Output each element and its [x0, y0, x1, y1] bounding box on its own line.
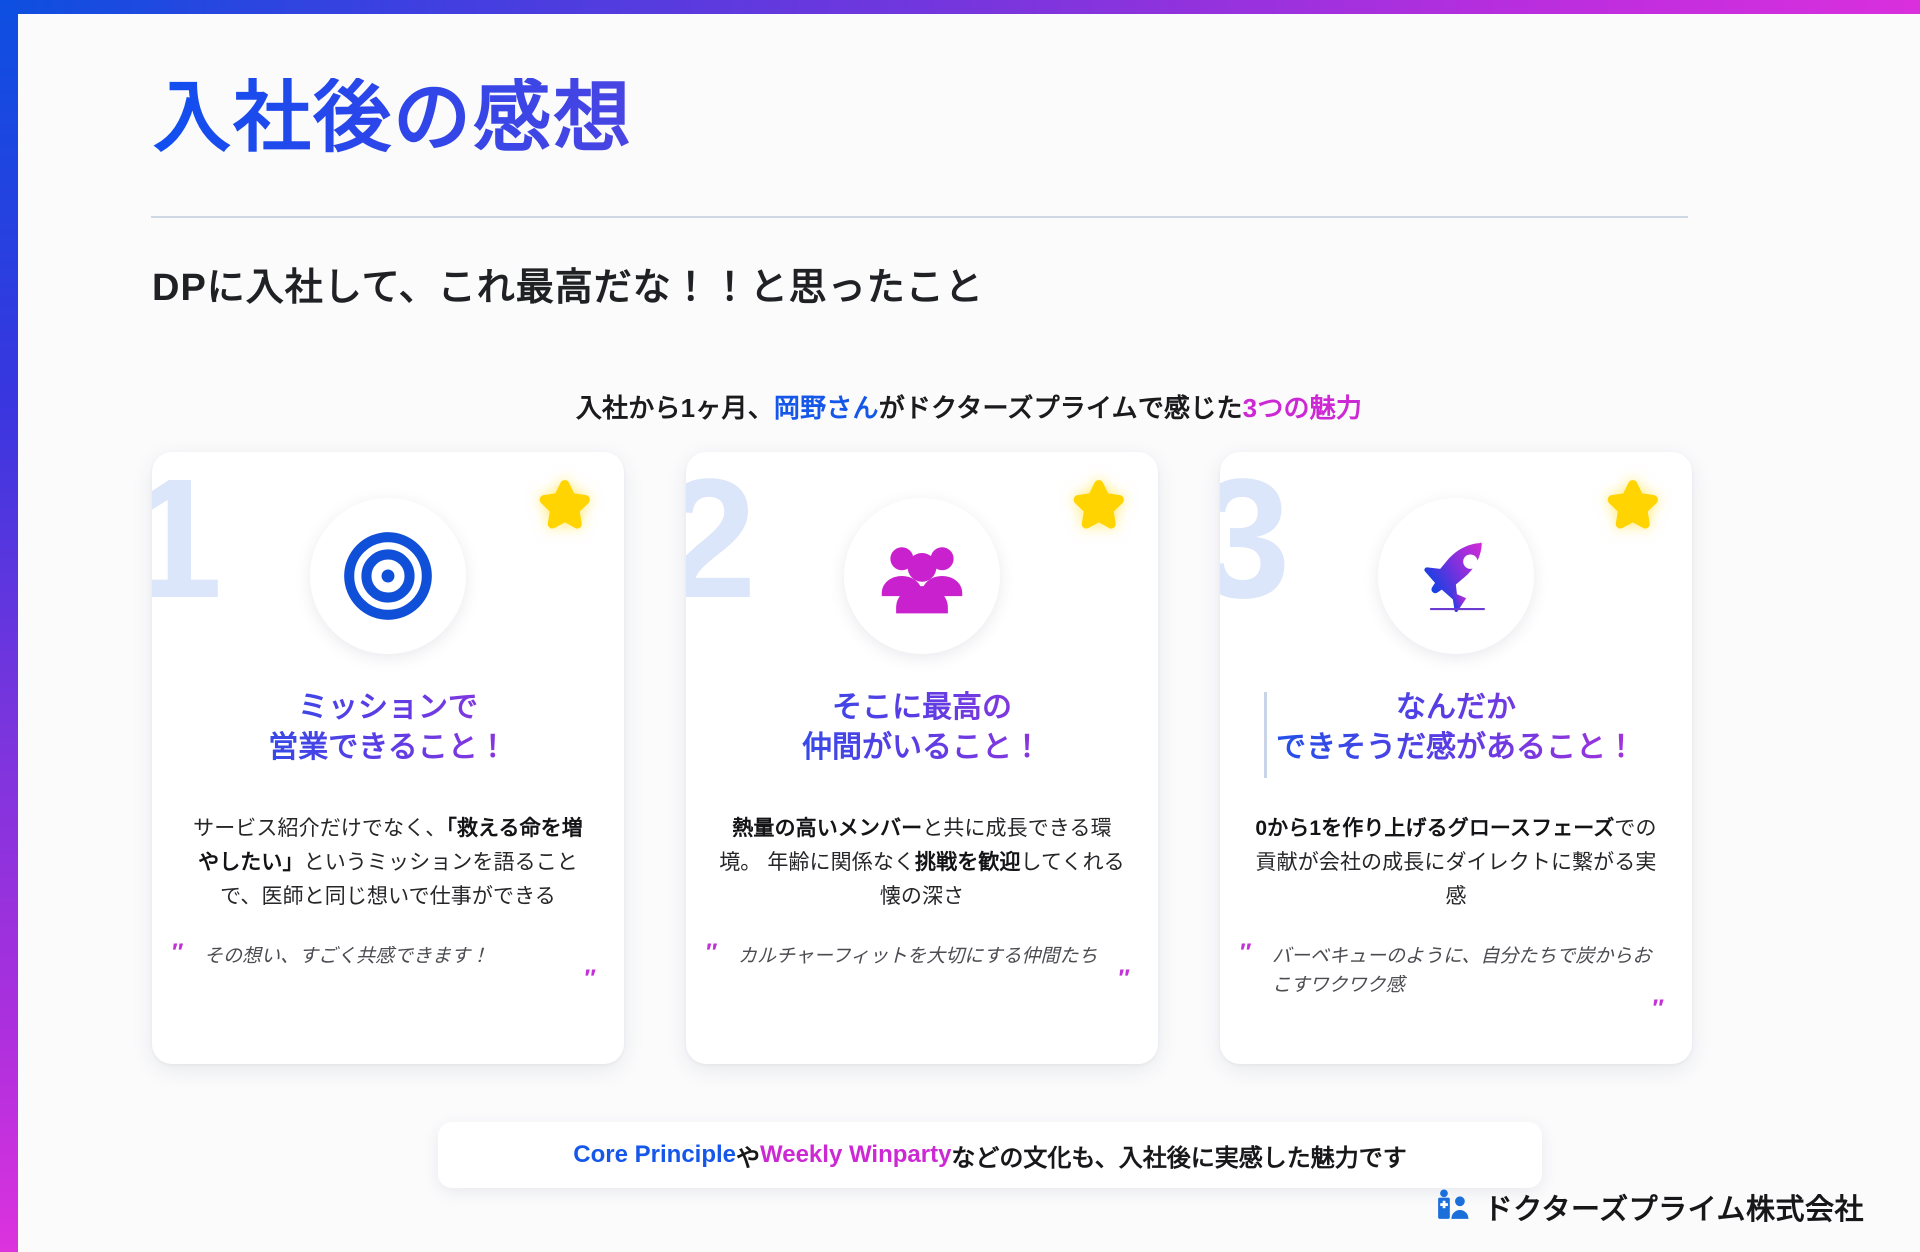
- rocket-icon: [1378, 498, 1534, 654]
- card-number-watermark: 2: [686, 454, 753, 624]
- body-part-bold: 0から1を作り上げるグロースフェーズ: [1255, 817, 1614, 840]
- banner-term-weekly-winparty: Weekly Winparty: [760, 1141, 951, 1169]
- lead-part1: 入社から1ヶ月、: [576, 393, 774, 423]
- quote-open-icon: ″: [172, 934, 184, 971]
- benefit-card-2[interactable]: 2: [686, 452, 1158, 1064]
- card-number-watermark: 3: [1220, 454, 1287, 624]
- banner-tail-text: などの文化も、入社後に実感した魅力です: [951, 1138, 1406, 1173]
- banner-conjunction: や: [736, 1138, 760, 1173]
- card-quote-3: ″ バーベキューのように、自分たちで炭からおこすワクワク感 ″: [1258, 942, 1660, 1001]
- slide-root: 入社後の感想 DPに入社して、これ最高だな！！と思ったこと 入社から1ヶ月、岡野…: [0, 0, 1920, 1252]
- card-heading-2: そこに最高の 仲間がいること！: [686, 688, 1158, 767]
- lead-sentence: 入社から1ヶ月、岡野さんがドクターズプライムで感じた3つの魅力: [18, 388, 1920, 425]
- quote-text: その想い、すごく共感できます！: [190, 942, 592, 971]
- culture-banner: Core PrincipleやWeekly Winpartyなどの文化も、入社後…: [438, 1122, 1542, 1188]
- body-part-bold: 熱量の高いメンバー: [732, 817, 922, 840]
- company-name: ドクターズプライム株式会社: [1484, 1186, 1864, 1228]
- lead-part2: がドクターズプライムで感じた: [879, 393, 1243, 423]
- card-body-3: 0から1を作り上げるグロースフェーズでの貢献が会社の成長にダイレクトに繋がる実感: [1252, 812, 1660, 914]
- people-group-icon: [844, 498, 1000, 654]
- quote-open-icon: ″: [1240, 934, 1252, 971]
- star-icon: [536, 476, 594, 534]
- benefit-card-1[interactable]: 1 ミッションで 営業できること！: [152, 452, 624, 1064]
- slide-content: 入社後の感想 DPに入社して、これ最高だな！！と思ったこと 入社から1ヶ月、岡野…: [18, 0, 1920, 1252]
- quote-open-icon: ″: [706, 934, 718, 971]
- benefit-card-3[interactable]: 3: [1220, 452, 1692, 1064]
- card-heading-line2: 営業できること！: [152, 728, 624, 768]
- star-icon: [1070, 476, 1128, 534]
- quote-text: バーベキューのように、自分たちで炭からおこすワクワク感: [1258, 942, 1660, 1001]
- card-quote-2: ″ カルチャーフィットを大切にする仲間たち ″: [724, 942, 1126, 971]
- card-heading-line1: ミッションで: [152, 688, 624, 728]
- card-number-watermark: 1: [152, 454, 219, 624]
- quote-close-icon: ″: [1653, 990, 1665, 1027]
- body-part-bold: 挑戦を歓迎: [915, 851, 1021, 874]
- quote-text: カルチャーフィットを大切にする仲間たち: [724, 942, 1126, 971]
- lead-count: 3つの魅力: [1243, 393, 1362, 423]
- title-divider: [151, 216, 1688, 218]
- benefit-card-list: 1 ミッションで 営業できること！: [152, 452, 1692, 1064]
- card-heading-3: なんだか できそうだ感があること！: [1220, 688, 1692, 767]
- left-gradient-bar: [0, 0, 18, 1252]
- card-heading-line2: 仲間がいること！: [686, 728, 1158, 768]
- quote-close-icon: ″: [1119, 960, 1131, 997]
- target-icon: [310, 498, 466, 654]
- card-quote-1: ″ その想い、すごく共感できます！ ″: [190, 942, 592, 971]
- quote-close-icon: ″: [585, 960, 597, 997]
- card-body-2: 熱量の高いメンバーと共に成長できる環境。 年齢に関係なく挑戦を歓迎してくれる懐の…: [718, 812, 1126, 914]
- page-subtitle: DPに入社して、これ最高だな！！と思ったこと: [152, 256, 984, 311]
- card-body-1: サービス紹介だけでなく、「救える命を増やしたい」というミッションを語ることで、医…: [184, 812, 592, 914]
- body-part: サービス紹介だけでなく、: [193, 817, 446, 840]
- card-heading-line1: そこに最高の: [686, 688, 1158, 728]
- top-gradient-bar: [0, 0, 1920, 14]
- banner-term-core-principle: Core Principle: [573, 1141, 736, 1169]
- star-icon: [1604, 476, 1662, 534]
- heading-accent-bar: [1264, 692, 1267, 778]
- doctor-patient-icon: [1436, 1188, 1470, 1227]
- card-heading-1: ミッションで 営業できること！: [152, 688, 624, 767]
- page-title: 入社後の感想: [153, 78, 633, 156]
- card-heading-line2: できそうだ感があること！: [1220, 728, 1692, 768]
- card-heading-line1: なんだか: [1220, 688, 1692, 728]
- footer-logo: ドクターズプライム株式会社: [1436, 1186, 1864, 1228]
- lead-person-name: 岡野さん: [774, 393, 879, 423]
